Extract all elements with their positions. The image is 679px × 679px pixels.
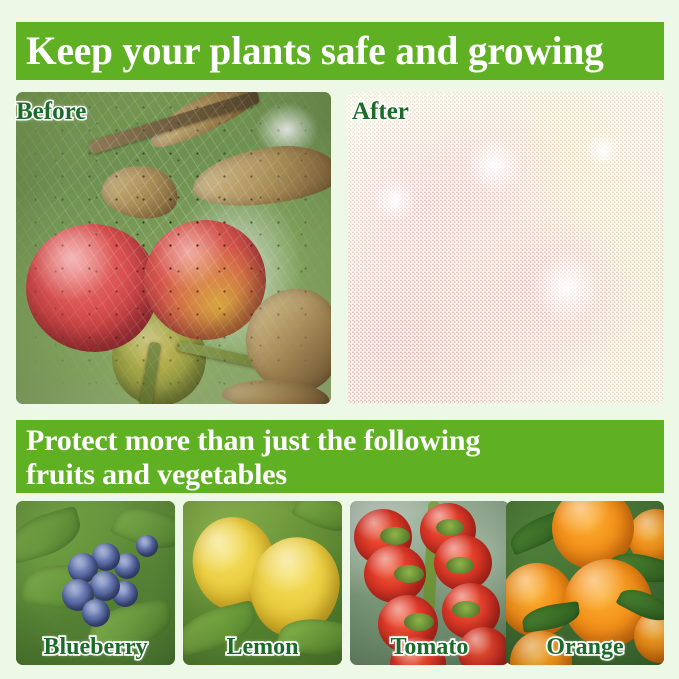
blueberry-shape	[82, 599, 110, 627]
before-label: Before	[16, 98, 86, 126]
produce-tile-lemon: Lemon	[183, 501, 342, 665]
blueberry-shape	[136, 535, 158, 557]
produce-label-tomato: Tomato	[350, 634, 509, 661]
light-glow	[373, 178, 417, 222]
product-infographic: Keep your plants safe and growing Before	[0, 0, 679, 679]
blueberry-shape	[90, 571, 120, 601]
calyx-shape	[380, 527, 410, 545]
light-glow	[531, 252, 601, 322]
subheadline-line-2: fruits and vegetables	[26, 458, 654, 492]
diseased-apple-shape	[26, 224, 158, 352]
calyx-shape	[404, 613, 434, 631]
branch-shape	[88, 92, 260, 154]
dead-leaf-icon	[98, 160, 181, 223]
leaf-shape	[291, 501, 342, 541]
after-label: After	[352, 98, 409, 126]
before-photo	[16, 92, 331, 404]
produce-tile-orange: Orange	[506, 501, 664, 665]
subheadline-banner: Protect more than just the following fru…	[16, 420, 664, 493]
headline-text: Keep your plants safe and growing	[26, 28, 645, 74]
before-photo-panel	[16, 92, 331, 404]
protective-mesh-overlay	[347, 92, 664, 404]
produce-tile-tomato: Tomato	[350, 501, 509, 665]
calyx-shape	[452, 601, 480, 618]
produce-label-blueberry: Blueberry	[16, 634, 175, 661]
light-glow	[585, 132, 621, 168]
diseased-apple-shape	[144, 220, 266, 340]
subheadline-line-1: Protect more than just the following	[26, 424, 654, 458]
calyx-shape	[394, 565, 424, 583]
produce-tile-blueberry: Blueberry	[16, 501, 175, 665]
mesh-sheen-overlay	[347, 92, 664, 404]
after-photo-panel	[347, 92, 664, 404]
dead-leaf-icon	[189, 139, 331, 213]
produce-label-lemon: Lemon	[183, 634, 342, 661]
calyx-shape	[446, 557, 474, 574]
produce-label-orange: Orange	[506, 634, 664, 661]
headline-banner: Keep your plants safe and growing	[16, 22, 664, 80]
after-photo	[347, 92, 664, 404]
calyx-shape	[436, 519, 464, 536]
light-glow	[465, 136, 523, 194]
